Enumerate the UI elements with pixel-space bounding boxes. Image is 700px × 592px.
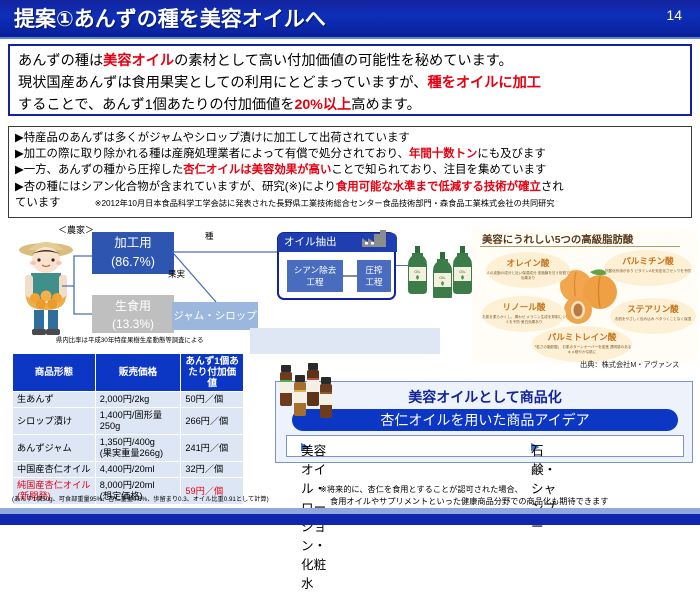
table-footnote: (あんず1個50g、可食部重量95%、杏仁重量0.8%、歩留まり0.3、オイル比… (12, 494, 269, 503)
fatty-acid-title: 美容にうれしい5つの高級脂肪酸 (482, 231, 633, 246)
bullet-item: ▶特産品のあんずは多くがジャムやシロップ漬けに加工して出荷されています (15, 130, 685, 146)
price-comparison-table: 商品形態 販売価格 あんず1個あたり付加価値 生あんず 2,000円/2kg 5… (12, 353, 244, 505)
cell-price: 1,350円/400g (果実重量266g) (95, 435, 181, 462)
svg-text:OIL: OIL (459, 269, 466, 274)
product-idea-pill: 杏仁オイルを用いた商品アイデア (292, 409, 678, 431)
lead-line-2: 現状国産あんずは食用果実としての利用にとどまっていますが、種をオイルに加工 (18, 72, 682, 94)
lead-line-1: あんずの種は美容オイルの素材として高い付加価値の可能性を秘めています。 (18, 50, 682, 72)
fatty-acid-panel: 美容にうれしい5つの高級脂肪酸 オレイン酸 人の皮脂の成分と近い保湿成分 皮脂膜… (472, 228, 698, 363)
cell-value: 241円／個 (181, 435, 244, 462)
table-header-row: 商品形態 販売価格 あんず1個あたり付加価値 (13, 354, 244, 392)
title-bar: 提案①あんずの種を美容オイルへ 14 (0, 0, 700, 34)
lead-highlight-1: 美容オイル (103, 53, 174, 69)
bullet-item: ▶加工の際に取り除かれる種は産廃処理業者によって有償で処分されており、年間十数ト… (15, 146, 685, 162)
product-footnote: ※将来的に、杏仁を食用とすることが認可された場合、 食用オイルやサプリメントとい… (320, 484, 608, 508)
cell-value: 32円／個 (181, 462, 244, 478)
cell-price: 2,000円/2kg (95, 392, 181, 408)
table-row: 中国産杏仁オイル 4,400円/20ml 32円／個 (13, 462, 244, 478)
lead-highlight-3: 20%以上 (294, 97, 351, 113)
step-connector (343, 275, 357, 277)
processing-use-box: 加工用 (86.7%) (92, 232, 174, 274)
cell-item: 生あんず (13, 392, 96, 408)
cell-value: 50円／個 (181, 392, 244, 408)
fatty-acid-oleic: オレイン酸 人の皮脂の成分と近い保湿成分 皮脂膜を담う役割で効果あり (486, 252, 570, 288)
product-idea-row: ▶ 美容オイル・ローション・化粧水 ▶ 石鹸・シャンプー (286, 435, 684, 457)
table-row: シロップ漬け 1,400円/固形量 250g 266円／個 (13, 408, 244, 435)
fatty-acid-source: 出典：株式会社M・アヴァンス (580, 360, 679, 370)
th-item: 商品形態 (13, 354, 96, 392)
cell-item: シロップ漬け (13, 408, 96, 435)
page-title: 提案①あんずの種を美容オイルへ (14, 3, 326, 33)
fatty-acid-underline (480, 246, 680, 247)
svg-text:OIL: OIL (439, 275, 446, 280)
bullet-item: ▶杏の種にはシアン化合物が含まれていますが、研究(※)により食用可能な水準まで低… (15, 179, 685, 195)
bullet-item: ▶一方、あんずの種から圧搾した杏仁オイルは美容効果が高いことで知られており、注目… (15, 162, 685, 178)
diagram-band (250, 328, 440, 354)
bullet-list-box: ▶特産品のあんずは多くがジャムやシロップ漬けに加工して出荷されています ▶加工の… (8, 126, 692, 218)
product-footnote-line-2: 食用オイルやサプリメントといった健康商品分野での商品化も期待できます (320, 496, 608, 508)
table-row: 生あんず 2,000円/2kg 50円／個 (13, 392, 244, 408)
table-row: あんずジャム 1,350円/400g (果実重量266g) 241円／個 (13, 435, 244, 462)
oil-extraction-box: オイル抽出 シアン除去 工程 圧搾 工程 (277, 232, 396, 300)
bottom-bar-dark (0, 514, 700, 525)
lead-statement-box: あんずの種は美容オイルの素材として高い付加価値の可能性を秘めています。 現状国産… (8, 44, 692, 116)
cell-item: あんずジャム (13, 435, 96, 462)
title-rule-light (0, 37, 700, 39)
cell-price: 4,400円/20ml (95, 462, 181, 478)
slide-root: 提案①あんずの種を美容オイルへ 14 あんずの種は美容オイルの素材として高い付加… (0, 0, 700, 525)
cyanide-removal-step: シアン除去 工程 (287, 260, 343, 292)
fatty-acid-palmitic: パルミチン酸 抗酸化作用があり ビタミンAを安定化させシワを予防 (604, 250, 692, 286)
factory-icon (360, 230, 388, 248)
pressing-step: 圧搾 工程 (357, 260, 391, 292)
cell-value: 266円／個 (181, 408, 244, 435)
product-footnote-line-1: ※将来的に、杏仁を食用とすることが認可された場合、 (320, 484, 608, 496)
fatty-acid-palmitoleic: パルミトレイン酸 「若さの脂肪酸」 お肌のターンオーバーを促進 透明感のあるキメ… (532, 326, 632, 362)
lead-line-3: することで、あんず1個あたりの付加価値を20%以上高めます。 (18, 94, 682, 116)
fatty-acid-linoleic: リノール酸 お肌を柔らかくし、潤わせ メラニン生成を抑制しシミを予防 美白効果あ… (482, 296, 566, 332)
page-number: 14 (666, 7, 682, 23)
ratio-source-note: 県内比率は平成30年特産果樹生産動態等調査による (56, 335, 204, 344)
fatty-acid-stearic: ステアリン酸 お肌をやさしく包み込み ベタつくことなく保湿 (610, 298, 696, 334)
seed-fruit-connectors (172, 232, 282, 322)
fresh-use-box: 生食用 (13.3%) (92, 295, 174, 333)
cell-price: 1,400円/固形量 250g (95, 408, 181, 435)
bullet-tail-line: ています※2012年10月日本食品科学工学会誌に発表された長野県工業技術総合セン… (15, 195, 685, 212)
cosmetic-vials-illustration (278, 363, 340, 429)
lead-highlight-2: 種をオイルに加工 (427, 75, 541, 91)
th-price: 販売価格 (95, 354, 181, 392)
oil-bottles-illustration: OIL OIL OIL (408, 242, 478, 298)
svg-text:OIL: OIL (414, 269, 421, 274)
bullet-footnote: ※2012年10月日本食品科学工学会誌に発表された長野県工業技術総合センター食品… (95, 199, 555, 208)
cell-item: 中国産杏仁オイル (13, 462, 96, 478)
th-value: あんず1個あたり付加価値 (181, 354, 244, 392)
